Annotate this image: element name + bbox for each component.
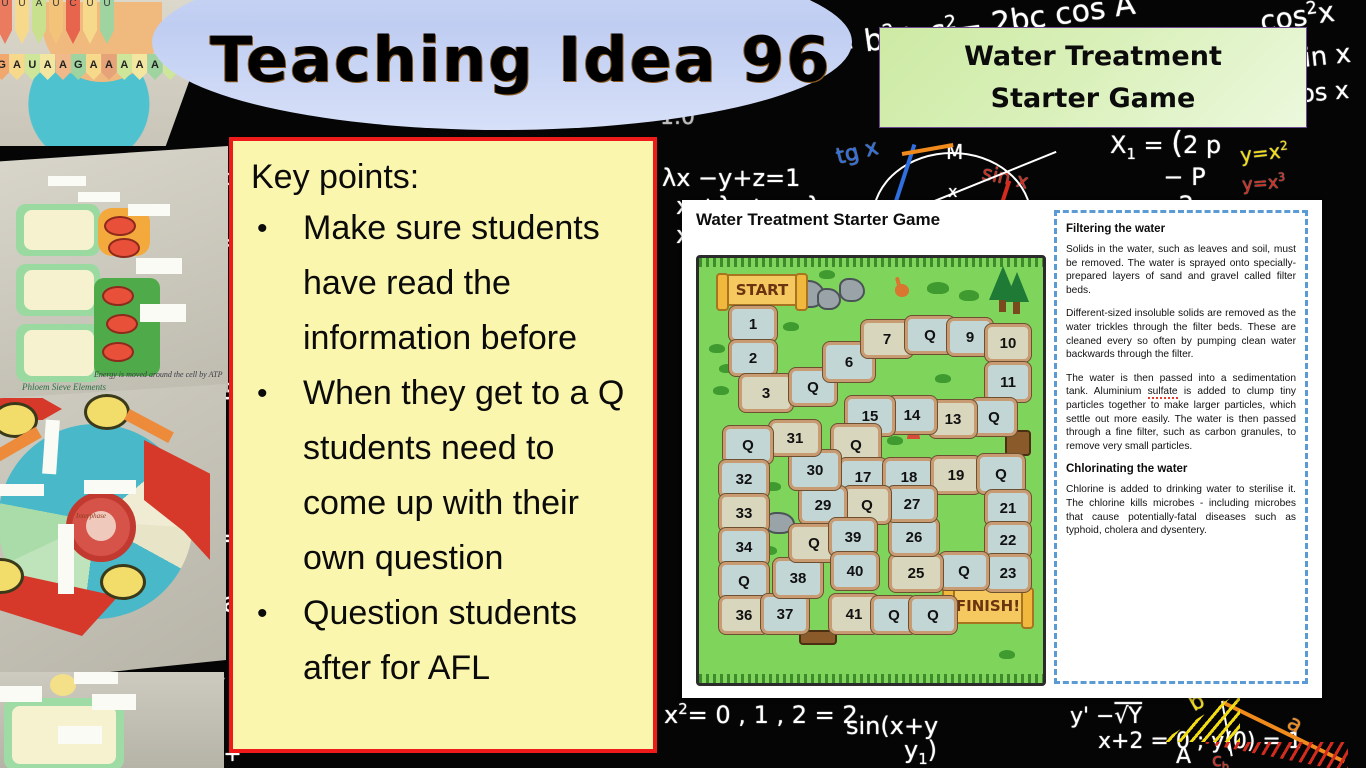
board-tile: 23 bbox=[985, 554, 1031, 592]
photo-shape bbox=[0, 484, 44, 496]
topic-title-box: Water Treatment Starter Game bbox=[879, 27, 1307, 128]
math-equation: x2= 0 , 1 , 2 = 2 bbox=[664, 700, 858, 729]
board-tile: 38 bbox=[773, 558, 823, 598]
worksheet-panel: Water Treatment Starter Game bbox=[682, 200, 1322, 698]
photo-shape bbox=[100, 564, 146, 600]
photo-caption: Energy is moved around the cell by ATP bbox=[94, 370, 223, 379]
slide-canvas: (2 4 -1 0) 2 = b2+ c2− 2bc cos A cos2x s… bbox=[0, 0, 1366, 768]
key-points-box: Key points: Make sure students have read… bbox=[229, 137, 657, 753]
bush-icon bbox=[935, 374, 951, 383]
photo-shape bbox=[84, 480, 136, 494]
info-panel: Filtering the water Solids in the water,… bbox=[1054, 210, 1308, 684]
photo-shape bbox=[104, 216, 136, 236]
bush-icon bbox=[887, 436, 903, 445]
list-item: When they get to a Q students need to co… bbox=[245, 366, 641, 586]
board-tile: Q bbox=[939, 552, 989, 590]
board-tile: Q bbox=[719, 562, 769, 600]
key-points-heading: Key points: bbox=[251, 155, 641, 199]
dna-base: A bbox=[117, 54, 132, 80]
photo-shape bbox=[50, 674, 76, 696]
board-tile: Q bbox=[909, 596, 957, 634]
board-tile: Q bbox=[971, 398, 1017, 436]
info-paragraph: Chlorine is added to drinking water to s… bbox=[1066, 483, 1296, 537]
info-paragraph: Different-sized insoluble solids are rem… bbox=[1066, 307, 1296, 361]
photo-shape bbox=[66, 492, 136, 562]
dna-base: G bbox=[0, 54, 9, 80]
bush-icon bbox=[713, 386, 729, 395]
board-tile: 37 bbox=[761, 594, 809, 634]
info-heading-filtering: Filtering the water bbox=[1066, 223, 1296, 235]
photo-shape bbox=[74, 672, 118, 684]
photo-shape bbox=[102, 286, 134, 306]
board-tile: 39 bbox=[829, 518, 877, 556]
dna-base: C bbox=[66, 0, 80, 44]
photo-shape bbox=[128, 204, 170, 216]
dna-base: U bbox=[49, 0, 63, 44]
dna-base: U bbox=[100, 0, 114, 44]
photo-shape bbox=[24, 330, 94, 376]
photo-shape bbox=[48, 176, 86, 186]
info-paragraph: Solids in the water, such as leaves and … bbox=[1066, 243, 1296, 297]
dna-base: A bbox=[55, 54, 70, 80]
board-tile: 30 bbox=[789, 450, 841, 490]
board-tile: 22 bbox=[985, 522, 1031, 558]
worksheet-title: Water Treatment Starter Game bbox=[696, 208, 996, 231]
dna-base: A bbox=[101, 54, 116, 80]
photo-shape bbox=[136, 258, 182, 274]
board-tile: 21 bbox=[985, 490, 1031, 526]
math-equation: λx −y+z=1 bbox=[662, 164, 800, 192]
dna-base: U bbox=[25, 54, 40, 80]
board-tile: 11 bbox=[985, 362, 1031, 402]
photo-shape bbox=[84, 394, 130, 430]
board-tile: 32 bbox=[719, 460, 769, 498]
bush-icon bbox=[783, 322, 799, 331]
dna-base: A bbox=[132, 54, 147, 80]
bush-icon bbox=[819, 270, 835, 279]
key-points-list: Make sure students have read the informa… bbox=[245, 201, 641, 696]
list-item: Question students after for AFL bbox=[245, 586, 641, 696]
dna-base: A bbox=[86, 54, 101, 80]
rock-icon bbox=[817, 288, 841, 310]
board-tile: 26 bbox=[889, 518, 939, 556]
math-equation: y=x3 bbox=[1241, 171, 1286, 196]
page-title: Teaching Idea 96 bbox=[210, 14, 770, 106]
photo-caption: Interphase bbox=[76, 512, 106, 520]
dna-base: A bbox=[32, 0, 46, 44]
classroom-photo-phloem: Phloem Sieve Elements Phloem Energy is m… bbox=[0, 146, 228, 408]
grass-edge bbox=[699, 674, 1043, 683]
finish-marker: FINISH! bbox=[947, 588, 1029, 624]
board-tile: Q bbox=[723, 426, 773, 464]
photo-shape bbox=[140, 304, 186, 322]
photo-shape bbox=[24, 270, 94, 310]
board-tile: 40 bbox=[831, 552, 879, 590]
photo-shape bbox=[78, 192, 120, 202]
math-equation: tg x bbox=[834, 135, 881, 170]
list-item: Make sure students have read the informa… bbox=[245, 201, 641, 366]
start-marker: START bbox=[721, 274, 803, 306]
photo-shape bbox=[102, 342, 134, 362]
dna-base: U bbox=[0, 0, 12, 44]
misspelled-word: sulfate bbox=[1148, 386, 1178, 399]
rock-icon bbox=[839, 278, 865, 302]
classroom-photo-defence bbox=[0, 672, 224, 768]
math-equation: y=x2 bbox=[1239, 138, 1290, 168]
math-equation: A bbox=[1176, 744, 1191, 768]
board-tile: 3 bbox=[739, 374, 793, 412]
classroom-photo-cellcycle: Interphase bbox=[0, 384, 226, 684]
tree-icon bbox=[1005, 272, 1029, 302]
topic-title-line1: Water Treatment bbox=[964, 36, 1222, 78]
photo-shape bbox=[24, 210, 94, 250]
photo-caption: Phloem Sieve Elements bbox=[22, 382, 106, 392]
board-tile: 25 bbox=[889, 554, 943, 592]
photo-collage-strip: U U A U C U U G A U A A G A A A A A C bbox=[0, 0, 232, 768]
photo-shape bbox=[108, 238, 140, 258]
board-tile: 19 bbox=[931, 456, 981, 494]
board-tile: 27 bbox=[887, 486, 937, 522]
dna-base: U bbox=[15, 0, 29, 44]
photo-shape bbox=[58, 524, 74, 594]
dna-base: U bbox=[83, 0, 97, 44]
photo-shape bbox=[0, 686, 42, 702]
bush-icon bbox=[959, 290, 979, 301]
board-tile: 2 bbox=[729, 340, 777, 376]
photo-shape bbox=[58, 726, 102, 744]
board-tile: Q bbox=[977, 454, 1025, 494]
board-game-image: START FINISH! 1 2 3 Q 6 7 Q 9 10 11 Q 13… bbox=[696, 255, 1046, 686]
photo-shape bbox=[92, 694, 136, 710]
board-tile: 10 bbox=[985, 324, 1031, 362]
photo-shape bbox=[106, 314, 138, 334]
board-tile: 34 bbox=[719, 528, 769, 566]
dna-base: A bbox=[40, 54, 55, 80]
topic-title-line2: Starter Game bbox=[991, 78, 1196, 120]
board-tile: 1 bbox=[729, 306, 777, 342]
dna-base: A bbox=[9, 54, 24, 80]
rabbit-icon bbox=[895, 284, 909, 297]
math-equation: y1) bbox=[904, 736, 937, 768]
info-paragraph-sedimentation: The water is then passed into a sediment… bbox=[1066, 372, 1296, 454]
board-tile: 33 bbox=[719, 494, 769, 532]
dna-base: G bbox=[71, 54, 86, 80]
board-tile: 31 bbox=[769, 420, 821, 456]
info-heading-chlorinating: Chlorinating the water bbox=[1066, 463, 1296, 475]
bush-icon bbox=[999, 650, 1015, 659]
math-equation: cb bbox=[1212, 750, 1229, 768]
bush-icon bbox=[927, 282, 949, 294]
bush-icon bbox=[709, 344, 725, 353]
tree-icon bbox=[1013, 302, 1020, 314]
